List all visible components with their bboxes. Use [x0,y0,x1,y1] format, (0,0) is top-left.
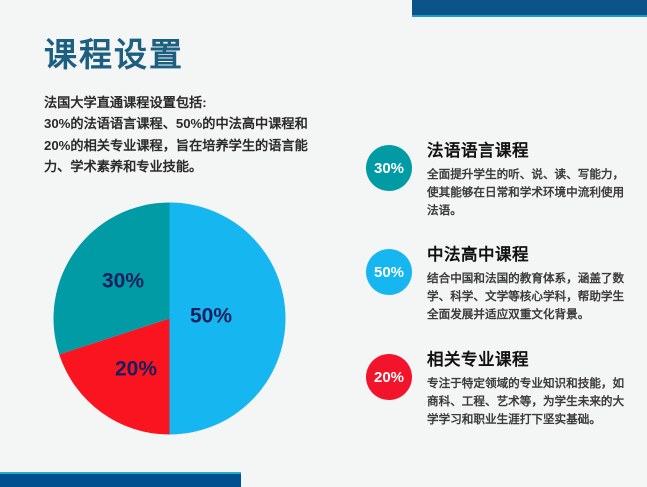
pie-chart: 50% 20% 30% [53,202,286,435]
legend-heading-0: 法语语言课程 [427,141,647,162]
legend-text-block: 相关专业课程 专注于特定领域的专业知识和技能，如商科、工程、艺术等，为学生未来的… [427,350,647,429]
legend-body-0: 全面提升学生的听、说、读、写能力，使其能够在日常和学术环境中流利使用法语。 [427,166,627,220]
legend-badge-50: 50% [366,249,412,295]
legend-heading-1: 中法高中课程 [427,245,647,266]
page-title: 课程设置 [44,36,184,74]
pie-label-1: 20% [115,358,157,381]
legend-body-1: 结合中国和法国的教育体系，涵盖了数学、科学、文学等核心学科，帮助学生全面发展并适… [427,270,627,324]
slide-canvas: 课程设置 法国大学直通课程设置包括: 30%的法语语言课程、50%的中法高中课程… [0,0,647,487]
legend-badge-20: 20% [366,354,412,400]
bottom-accent-bar [0,472,241,487]
intro-line-2: 30%的法语语言课程、50%的中法高中课程和 [44,113,336,134]
pie-chart-svg: 50% 20% 30% [53,202,286,435]
intro-line-1: 法国大学直通课程设置包括: [44,92,336,113]
legend-heading-2: 相关专业课程 [427,350,647,371]
legend-item-french-language[interactable]: 30% 法语语言课程 全面提升学生的听、说、读、写能力，使其能够在日常和学术环境… [366,141,647,220]
legend-item-related-major[interactable]: 20% 相关专业课程 专注于特定领域的专业知识和技能，如商科、工程、艺术等，为学… [366,350,647,429]
legend-text-block: 法语语言课程 全面提升学生的听、说、读、写能力，使其能够在日常和学术环境中流利使… [427,141,647,220]
top-accent-bar [412,0,647,17]
intro-paragraph: 法国大学直通课程设置包括: 30%的法语语言课程、50%的中法高中课程和 20%… [44,92,336,178]
legend-badge-30: 30% [366,145,412,191]
pie-label-2: 30% [102,270,144,293]
intro-line-3: 20%的相关专业课程，旨在培养学生的语言能 [44,135,336,156]
legend-item-sino-french-highschool[interactable]: 50% 中法高中课程 结合中国和法国的教育体系，涵盖了数学、科学、文学等核心学科… [366,245,647,324]
intro-line-4: 力、学术素养和专业技能。 [44,156,336,177]
pie-label-0: 50% [190,305,232,328]
legend-text-block: 中法高中课程 结合中国和法国的教育体系，涵盖了数学、科学、文学等核心学科，帮助学… [427,245,647,324]
legend-body-2: 专注于特定领域的专业知识和技能，如商科、工程、艺术等，为学生未来的大学学习和职业… [427,375,627,429]
